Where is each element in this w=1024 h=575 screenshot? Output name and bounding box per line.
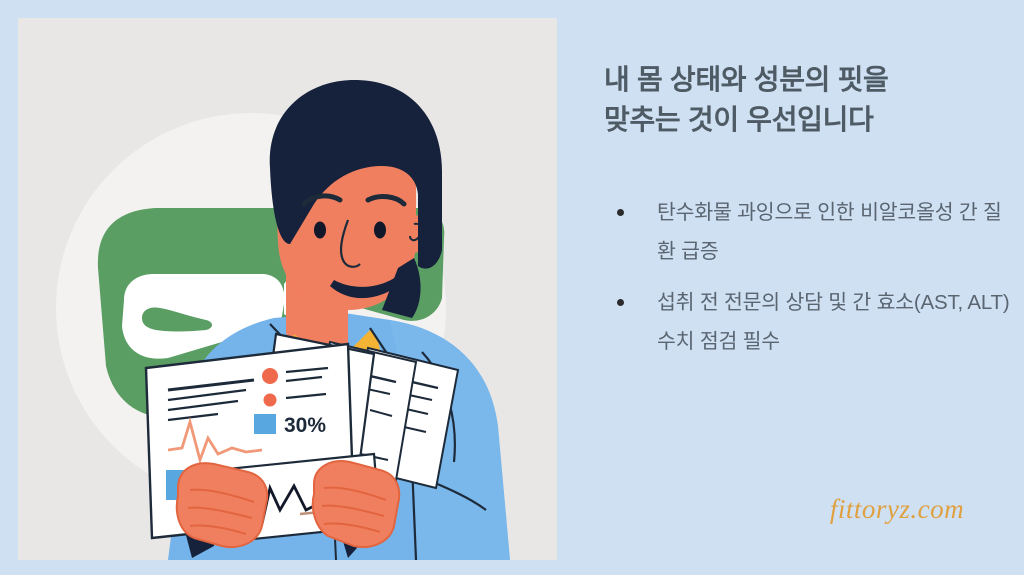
slide-root: 1,00 22 <box>0 0 1024 575</box>
list-item: 섭취 전 전문의 상담 및 간 효소(AST, ALT) 수치 점검 필수 <box>587 283 1017 362</box>
page-title: 내 몸 상태와 성분의 핏을 맞추는 것이 우선입니다 <box>604 60 1004 140</box>
text-column: 내 몸 상태와 성분의 핏을 맞추는 것이 우선입니다 탄수화물 과잉으로 인한… <box>557 0 1024 575</box>
bar-chart-block <box>254 414 276 434</box>
list-item: 탄수화물 과잉으로 인한 비알코올성 간 질환 급증 <box>587 193 1017 272</box>
list-item-label: 탄수화물 과잉으로 인한 비알코올성 간 질환 급증 <box>657 201 1002 263</box>
bullet-dot-icon <box>617 209 624 216</box>
watermark: fittoryz.com <box>797 494 997 525</box>
illustration-panel: 1,00 22 <box>18 18 557 560</box>
doctor-illustration: 1,00 22 <box>18 18 557 560</box>
report-percent: 30% <box>284 414 326 437</box>
bullet-list: 탄수화물 과잉으로 인한 비알코올성 간 질환 급증 섭취 전 전문의 상담 및… <box>587 193 1017 372</box>
list-item-label: 섭취 전 전문의 상담 및 간 효소(AST, ALT) 수치 점검 필수 <box>657 291 1009 353</box>
bullet-dot-icon <box>617 299 624 306</box>
